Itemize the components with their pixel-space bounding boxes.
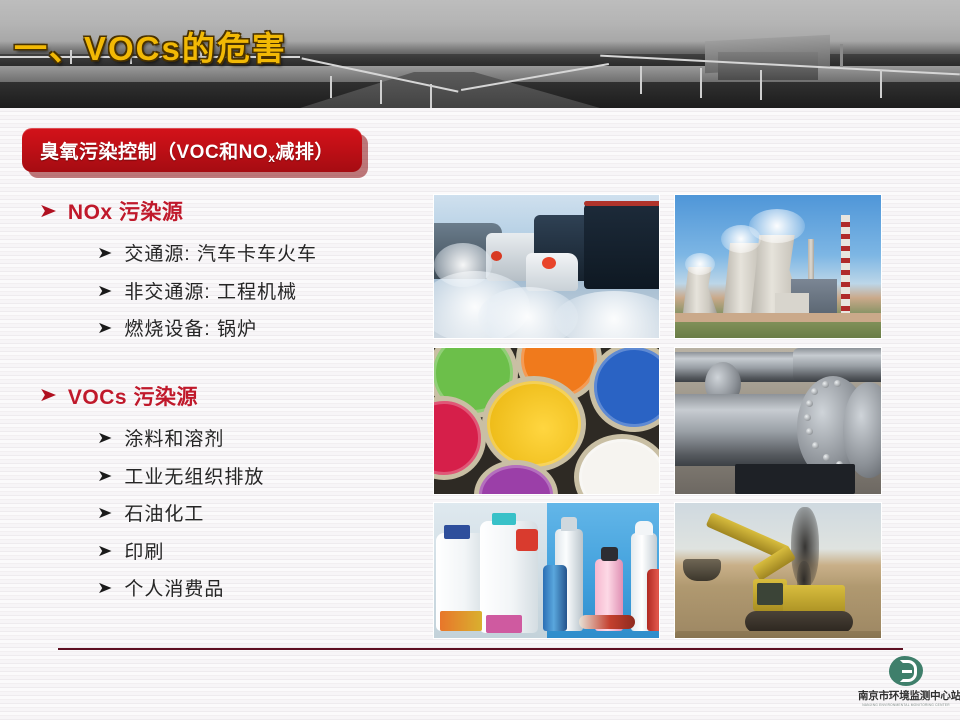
list-item-label: 印刷 xyxy=(124,540,164,566)
jug-cap xyxy=(444,525,470,539)
photo-railing-post xyxy=(880,70,882,98)
list-item-label: 燃烧设备: 锅炉 xyxy=(124,317,257,343)
list-item-label: 个人消费品 xyxy=(124,577,224,603)
photo-railing-post xyxy=(380,80,382,104)
product-label xyxy=(486,615,522,633)
section-heading-label: VOCs 污染源 xyxy=(68,381,198,411)
image-consumer-products xyxy=(433,502,660,639)
flange-bolt xyxy=(822,381,829,388)
vegetation-strip xyxy=(675,322,882,339)
logo-title: 南京市环境监测中心站 xyxy=(858,688,954,703)
image-excavator xyxy=(674,502,882,639)
banner-label: 臭氧污染控制（VOC和NOx减排） xyxy=(40,137,334,164)
flange-bolt xyxy=(811,388,818,395)
section-spacer xyxy=(40,355,420,381)
section-vocs: ➤ VOCs 污染源 ➤ 涂料和溶剂 ➤ 工业无组织排放 ➤ 石油化工 ➤ xyxy=(40,381,420,603)
image-grid xyxy=(433,194,882,639)
taillight xyxy=(542,257,556,269)
section-heading-label: NOx 污染源 xyxy=(68,196,184,226)
bullet-content: ➤ NOx 污染源 ➤ 交通源: 汽车卡车火车 ➤ 非交通源: 工程机械 ➤ 燃… xyxy=(40,196,420,615)
tube-product xyxy=(579,615,635,629)
flange-bolt xyxy=(834,380,841,387)
section-heading-row: ➤ VOCs 污染源 xyxy=(40,381,420,411)
banner-plate: 臭氧污染控制（VOC和NOx减排） xyxy=(22,128,362,172)
list-item: ➤ 印刷 xyxy=(98,540,420,566)
chevron-right-arrow-icon: ➤ xyxy=(97,280,112,303)
photo-railing-post xyxy=(430,84,432,108)
roof-stripe xyxy=(584,201,660,206)
excavator-bucket xyxy=(683,559,721,581)
plant-building xyxy=(775,293,809,313)
section-nox: ➤ NOx 污染源 ➤ 交通源: 汽车卡车火车 ➤ 非交通源: 工程机械 ➤ 燃… xyxy=(40,196,420,343)
list-item: ➤ 燃烧设备: 锅炉 xyxy=(98,317,420,343)
excavator-cab-window xyxy=(757,583,783,605)
organization-logo: 南京市环境监测中心站 NANJING ENVIRONMENTAL MONITOR… xyxy=(858,656,954,714)
aerosol-cans-half xyxy=(547,503,660,638)
list-item-label: 涂料和溶剂 xyxy=(124,427,224,453)
chimney-striped xyxy=(841,215,850,313)
chevron-right-arrow-icon: ➤ xyxy=(97,577,112,600)
pipeline-artwork xyxy=(675,348,881,494)
excavator-track xyxy=(745,611,853,633)
chevron-right-arrow-icon: ➤ xyxy=(97,317,112,340)
chevron-right-arrow-icon: ➤ xyxy=(97,540,112,563)
steam-plume xyxy=(749,209,805,243)
photo-railing-post xyxy=(700,68,702,98)
consumer-products-artwork xyxy=(434,503,659,638)
flange-bolt xyxy=(812,442,819,449)
aerosol-can-blue xyxy=(543,565,567,631)
list-item-label: 石油化工 xyxy=(124,502,204,528)
banner-label-part2: 减排） xyxy=(275,142,334,163)
slide: 一、VOCs的危害 臭氧污染控制（VOC和NOx减排） ➤ NOx 污染源 ➤ … xyxy=(0,0,960,720)
ground-strip xyxy=(675,631,882,639)
chevron-right-arrow-icon: ➤ xyxy=(97,502,112,525)
logo-letter-e xyxy=(900,660,917,682)
image-traffic-jam xyxy=(433,194,660,339)
paint-can-blue xyxy=(589,347,660,432)
footer-divider xyxy=(58,648,903,650)
cleaning-products-half xyxy=(434,503,547,638)
spray-trigger xyxy=(516,529,538,551)
paint-cans-artwork xyxy=(434,348,659,494)
section-banner: 臭氧污染控制（VOC和NOx减排） xyxy=(22,128,362,172)
photo-railing-post xyxy=(760,70,762,100)
flange-bolt xyxy=(804,414,811,421)
product-label xyxy=(440,611,482,631)
aerosol-cap-white xyxy=(635,521,653,535)
steam-plume xyxy=(685,253,715,275)
list-item-label: 交通源: 汽车卡车火车 xyxy=(124,242,317,268)
logo-subtitle: NANJING ENVIRONMENTAL MONITORING CENTER xyxy=(860,703,951,707)
page-title: 一、VOCs的危害 xyxy=(14,22,287,70)
ground-strip xyxy=(675,313,882,322)
list-item: ➤ 个人消费品 xyxy=(98,577,420,603)
exhaust-plume xyxy=(434,243,492,287)
list-item-label: 工业无组织排放 xyxy=(124,465,264,491)
chevron-right-arrow-icon: ➤ xyxy=(97,427,112,450)
image-paint-cans xyxy=(433,347,660,495)
header-photo-banner: 一、VOCs的危害 xyxy=(0,0,960,108)
image-pipeline-valve xyxy=(674,347,882,495)
chevron-right-arrow-icon: ➤ xyxy=(97,242,112,265)
photo-mast xyxy=(840,44,843,70)
list-item-label: 非交通源: 工程机械 xyxy=(124,280,297,306)
aerosol-nozzle xyxy=(561,517,577,531)
exhaust-plume xyxy=(554,291,660,339)
photo-railing-post xyxy=(640,66,642,94)
paint-can-white xyxy=(574,434,660,495)
section-heading-row: ➤ NOx 污染源 xyxy=(40,196,420,226)
list-item: ➤ 涂料和溶剂 xyxy=(98,427,420,453)
photo-railing-post xyxy=(330,76,332,98)
paint-can-yellow xyxy=(482,376,586,472)
car-shape xyxy=(584,203,660,289)
banner-label-part1: 臭氧污染控制（VOC和NO xyxy=(40,142,268,163)
jug-cap xyxy=(492,513,516,525)
banner-label-subscript: x xyxy=(268,151,275,165)
taillight xyxy=(491,251,502,261)
bottle-cap-dark xyxy=(601,547,618,561)
list-item: ➤ 非交通源: 工程机械 xyxy=(98,280,420,306)
chevron-right-arrow-icon: ➤ xyxy=(39,202,57,221)
image-power-plant xyxy=(674,194,882,339)
traffic-jam-artwork xyxy=(434,195,659,338)
chevron-right-arrow-icon: ➤ xyxy=(97,465,112,488)
section-vocs-list: ➤ 涂料和溶剂 ➤ 工业无组织排放 ➤ 石油化工 ➤ 印刷 ➤ 个人消费品 xyxy=(98,427,420,603)
leaf-e-mark-icon xyxy=(889,656,923,686)
excavator-artwork xyxy=(675,503,881,638)
flange-bolt xyxy=(806,400,813,407)
flange-bolt xyxy=(823,454,830,461)
list-item: ➤ 工业无组织排放 xyxy=(98,465,420,491)
aerosol-can-red xyxy=(647,569,661,631)
list-item: ➤ 交通源: 汽车卡车火车 xyxy=(98,242,420,268)
section-nox-list: ➤ 交通源: 汽车卡车火车 ➤ 非交通源: 工程机械 ➤ 燃烧设备: 锅炉 xyxy=(98,242,420,343)
power-plant-artwork xyxy=(675,195,881,338)
chevron-right-arrow-icon: ➤ xyxy=(39,386,57,405)
pipe-support xyxy=(735,464,855,494)
flange-bolt xyxy=(806,428,813,435)
list-item: ➤ 石油化工 xyxy=(98,502,420,528)
